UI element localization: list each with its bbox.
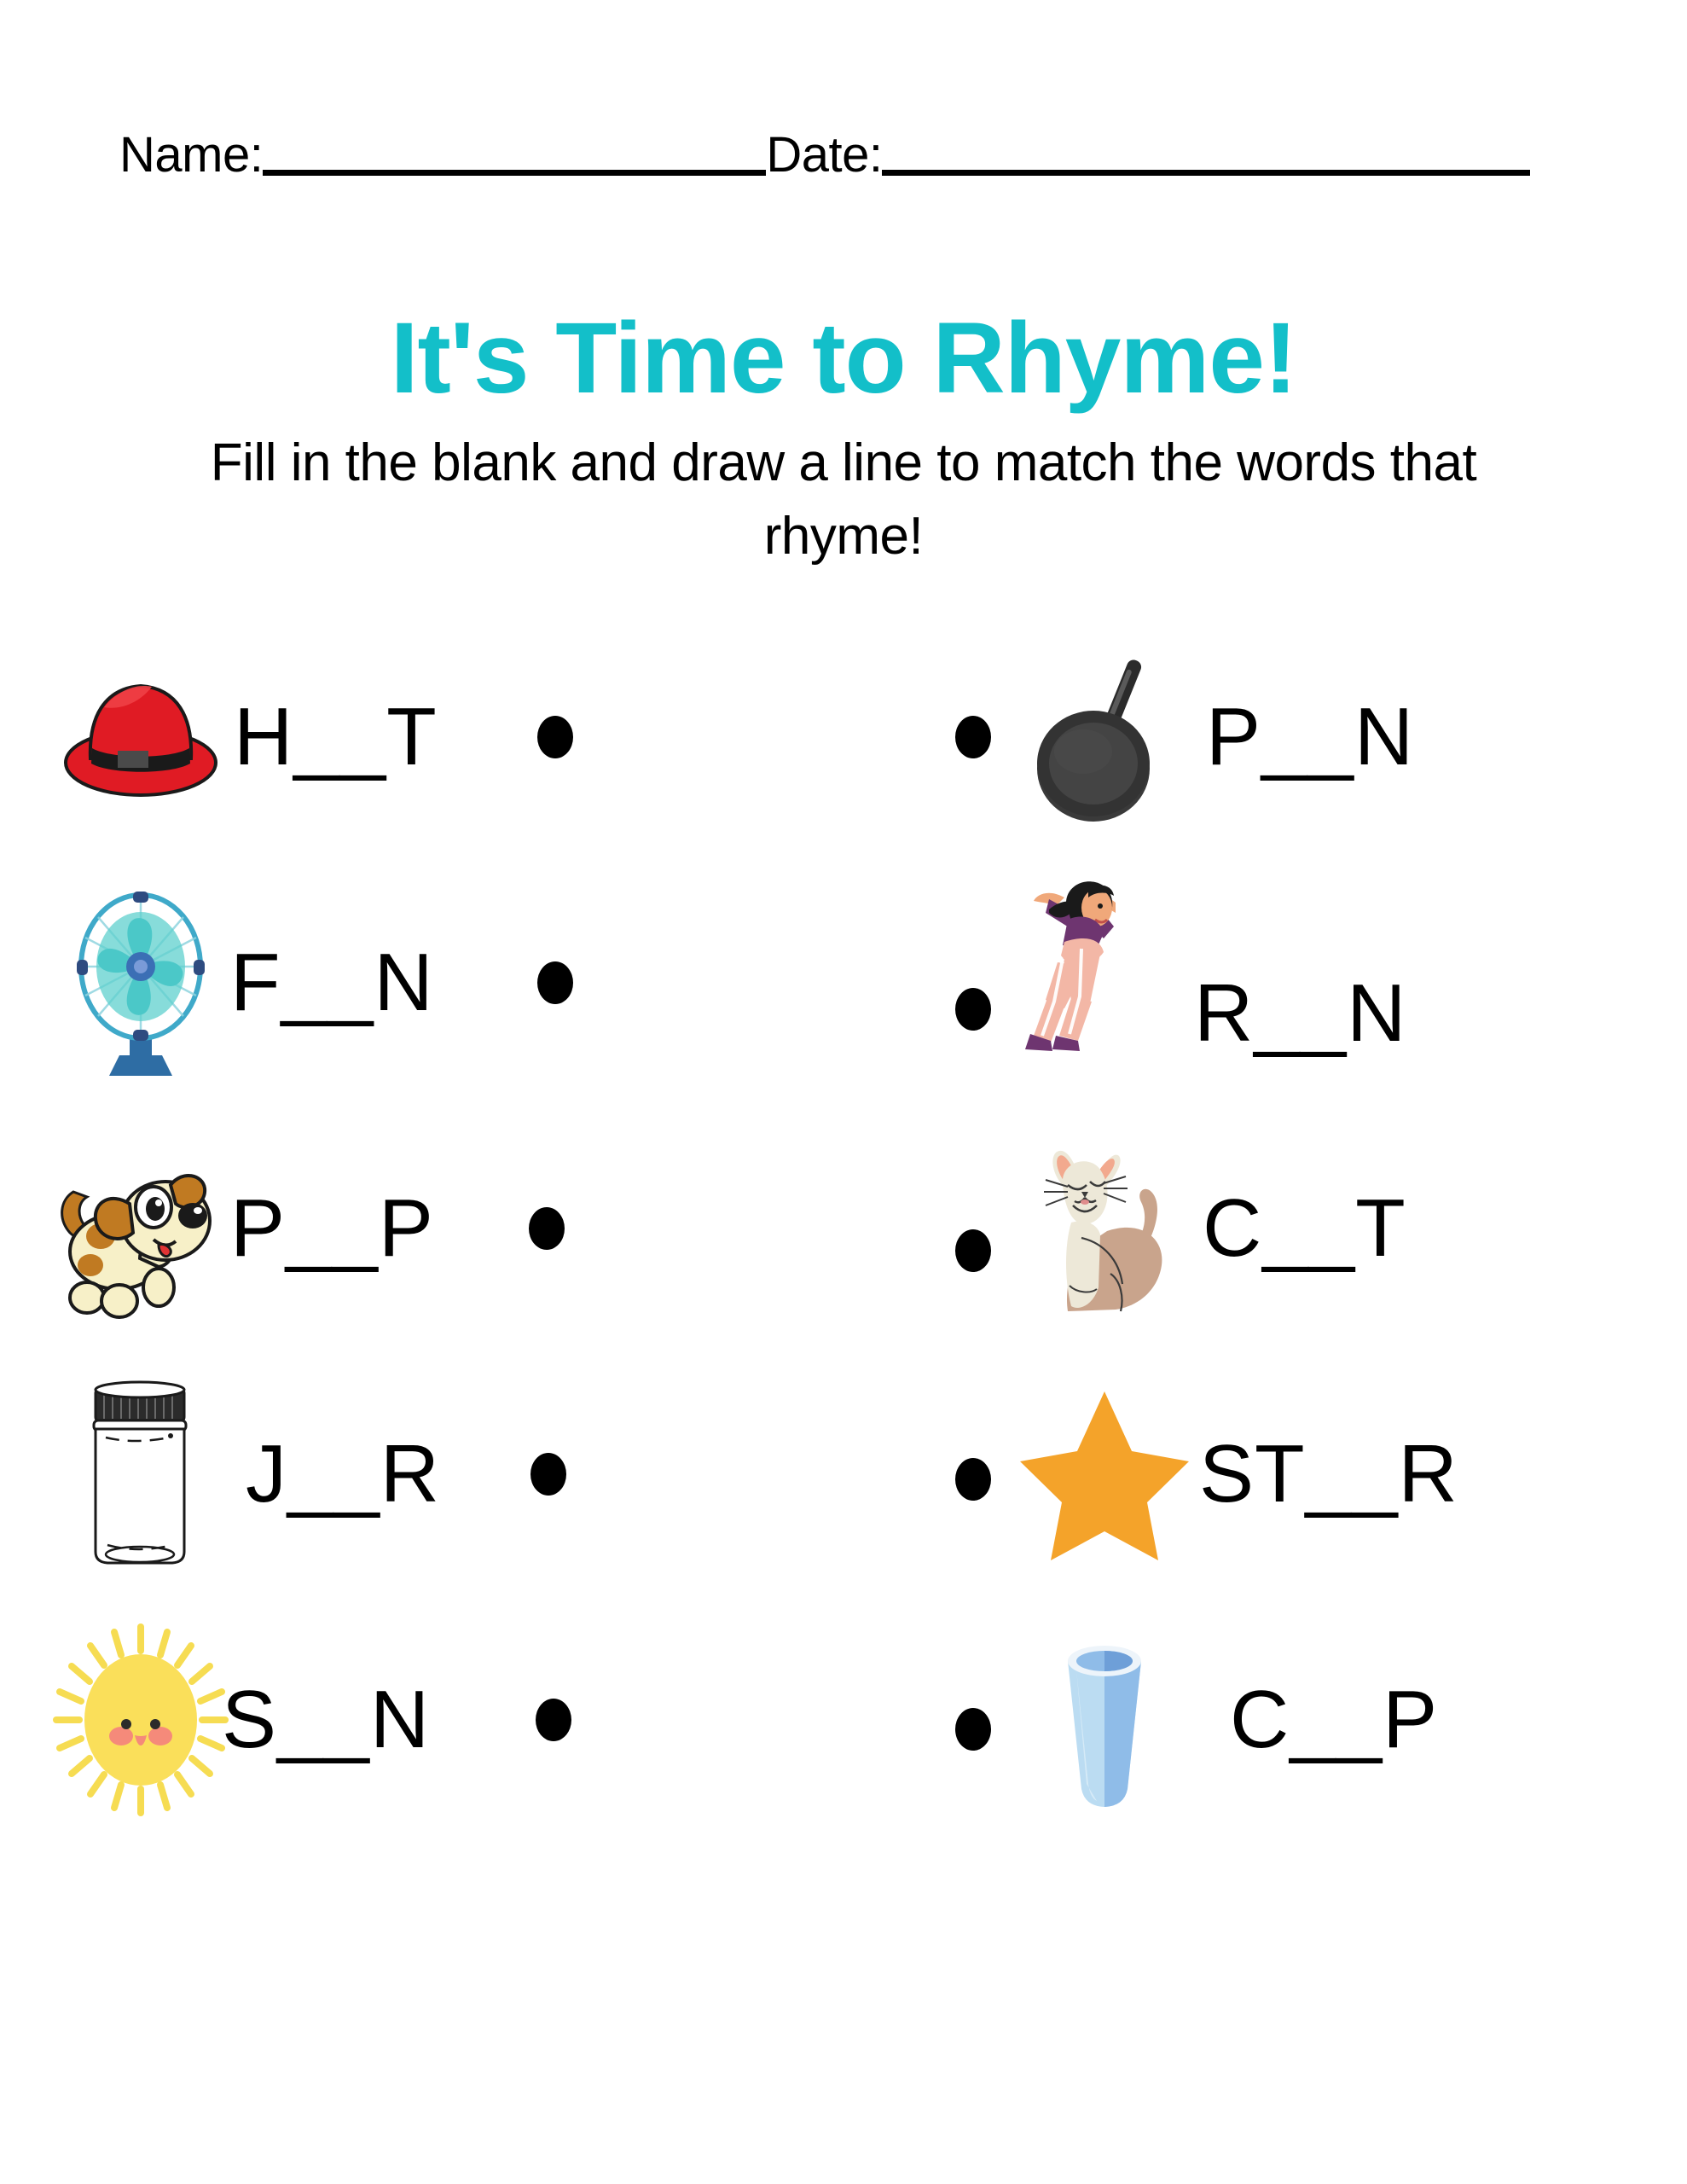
- left-word-5: S__N: [222, 1677, 430, 1763]
- frying-pan-icon: [1015, 639, 1194, 835]
- match-row: H__T P__N: [0, 614, 1687, 860]
- date-label: Date:: [766, 128, 882, 183]
- match-row: P__P: [0, 1106, 1687, 1351]
- right-connector-dot-5[interactable]: [955, 1708, 991, 1751]
- right-item-cup[interactable]: C__P: [1015, 1597, 1612, 1843]
- left-word-1: H__T: [234, 694, 438, 780]
- right-item-cat[interactable]: C__T: [1015, 1106, 1612, 1351]
- right-connector-dot-4[interactable]: [955, 1458, 991, 1501]
- left-item-hat[interactable]: H__T: [51, 614, 597, 860]
- student-info-row: Name: Date:: [119, 128, 1501, 183]
- right-item-run[interactable]: R__N: [1015, 860, 1612, 1106]
- right-connector-dot-2[interactable]: [955, 988, 991, 1031]
- match-row: S__N C__P: [0, 1597, 1687, 1843]
- left-item-jar[interactable]: J__R: [51, 1351, 597, 1597]
- left-connector-dot-5[interactable]: [536, 1699, 571, 1741]
- smiling-sun-icon: [51, 1622, 230, 1818]
- page-subtitle: Fill in the blank and draw a line to mat…: [154, 427, 1533, 573]
- date-input[interactable]: [882, 170, 1530, 176]
- date-field-group: Date:: [766, 128, 1530, 183]
- red-hat-icon: [51, 639, 230, 835]
- right-item-star[interactable]: ST__R: [1015, 1351, 1612, 1597]
- page-title: It's Time to Rhyme!: [0, 305, 1687, 411]
- worksheet-page: Name: Date: It's Time to Rhyme! Fill in …: [0, 0, 1687, 2184]
- match-row: J__R ST__R: [0, 1351, 1687, 1597]
- orange-star-icon: [1015, 1376, 1194, 1572]
- right-word-5: C__P: [1230, 1677, 1438, 1763]
- left-word-2: F__N: [230, 940, 434, 1025]
- name-label: Name:: [119, 128, 263, 183]
- left-word-3: P__P: [230, 1186, 434, 1271]
- left-connector-dot-4[interactable]: [530, 1453, 566, 1496]
- name-field-group: Name:: [119, 128, 766, 183]
- cat-icon: [1015, 1130, 1194, 1327]
- right-item-pan[interactable]: P__N: [1015, 614, 1612, 860]
- right-connector-dot-1[interactable]: [955, 716, 991, 758]
- matching-board: H__T P__N: [0, 614, 1687, 1843]
- blue-cup-icon: [1015, 1622, 1194, 1818]
- left-item-pup[interactable]: P__P: [51, 1106, 597, 1351]
- right-word-4: ST__R: [1199, 1432, 1458, 1517]
- puppy-dog-icon: [51, 1130, 230, 1327]
- left-word-4: J__R: [246, 1432, 440, 1517]
- left-item-sun[interactable]: S__N: [51, 1597, 597, 1843]
- right-word-3: C__T: [1203, 1186, 1406, 1271]
- running-woman-icon: [1015, 860, 1194, 1056]
- left-connector-dot-1[interactable]: [537, 716, 573, 758]
- match-row: F__N: [0, 860, 1687, 1106]
- right-word-2: R__N: [1194, 971, 1406, 1056]
- left-connector-dot-3[interactable]: [529, 1207, 565, 1250]
- glass-jar-icon: [51, 1376, 230, 1572]
- right-word-1: P__N: [1206, 694, 1414, 780]
- left-connector-dot-2[interactable]: [537, 961, 573, 1004]
- name-input[interactable]: [263, 170, 766, 176]
- electric-fan-icon: [51, 885, 230, 1081]
- left-item-fan[interactable]: F__N: [51, 860, 597, 1106]
- right-connector-dot-3[interactable]: [955, 1229, 991, 1272]
